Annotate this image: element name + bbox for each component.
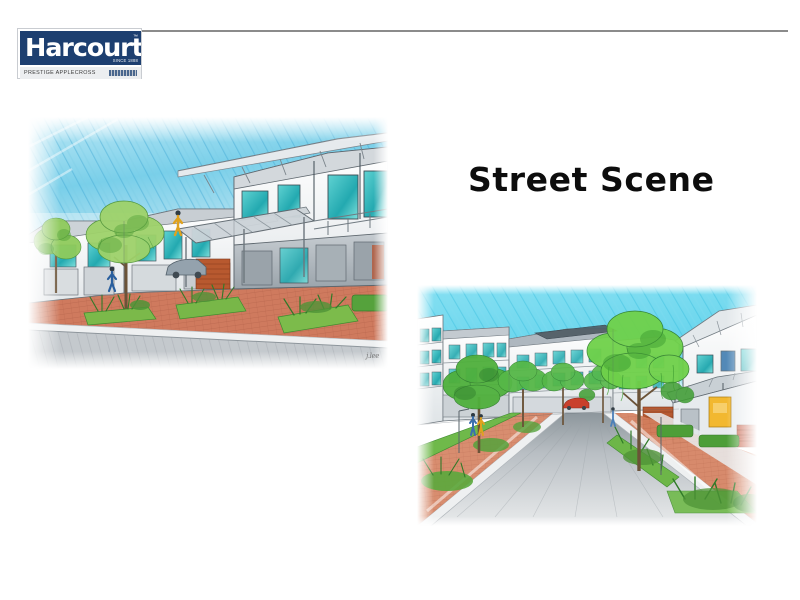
slide-header: Harcourts ™ SINCE 1888 PRESTIGE APPLECRO… xyxy=(0,0,800,95)
secondary-brand-mark-icon xyxy=(109,70,137,76)
page-title: Street Scene xyxy=(468,160,768,199)
street-perspective-rendering xyxy=(417,285,757,526)
street-elevation-artwork xyxy=(28,117,388,369)
street-elevation-rendering: j.lee xyxy=(28,117,388,369)
hedge-right xyxy=(352,295,388,311)
hedge-right-1 xyxy=(657,425,693,437)
established-label: SINCE 1888 xyxy=(113,58,138,63)
trademark-icon: ™ xyxy=(133,34,138,40)
office-name-label: PRESTIGE APPLECROSS xyxy=(24,68,96,78)
street-perspective-artwork xyxy=(417,285,757,526)
hedge-right-2 xyxy=(699,435,739,447)
artist-signature: j.lee xyxy=(366,352,379,360)
header-divider-rule xyxy=(140,30,788,32)
brand-office-bar: PRESTIGE APPLECROSS xyxy=(20,66,141,79)
harcourts-logo[interactable]: Harcourts ™ SINCE 1888 PRESTIGE APPLECRO… xyxy=(17,28,142,79)
brand-navy-plate: Harcourts ™ SINCE 1888 xyxy=(20,31,141,65)
